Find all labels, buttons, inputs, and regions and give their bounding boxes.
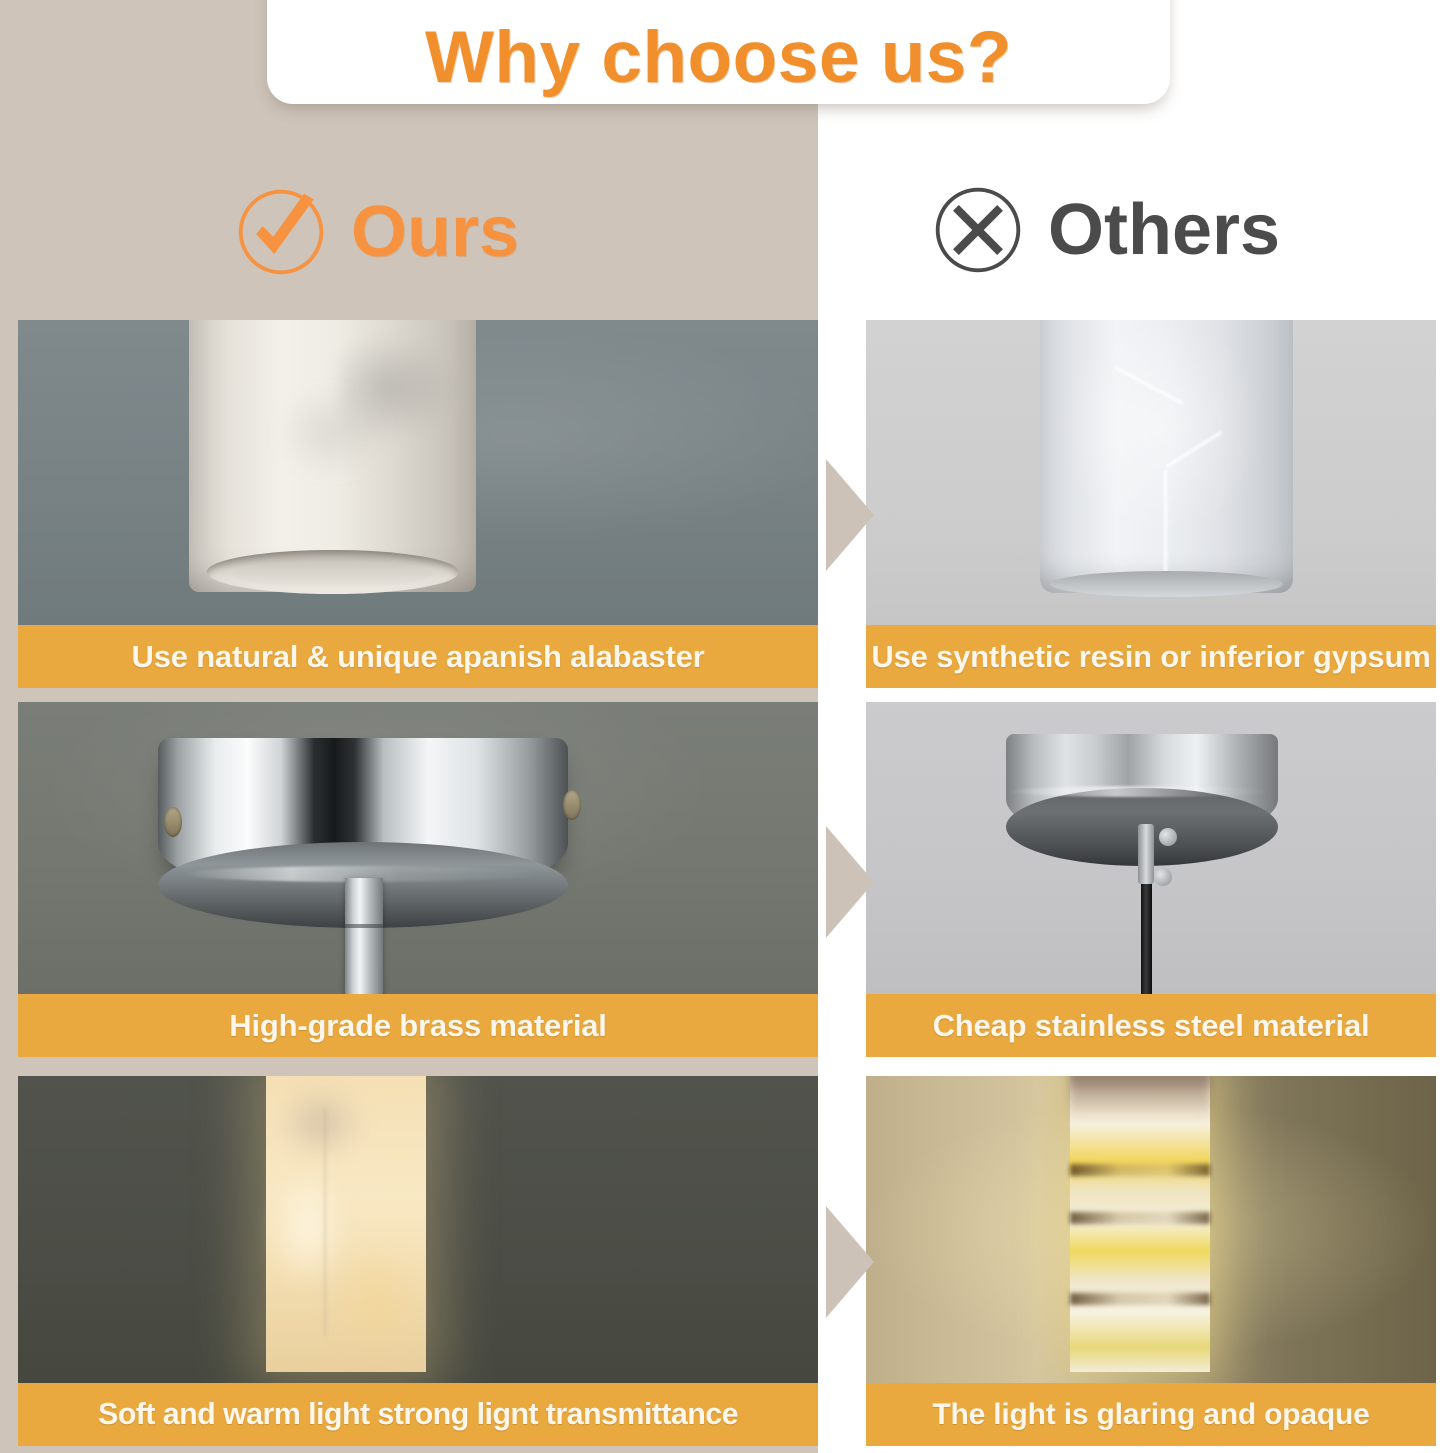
others-caption-1: Use synthetic resin or inferior gypsum [866,625,1436,688]
ours-card-1: Use natural & unique apanish alabaster [18,320,818,688]
ours-caption-3: Soft and warm light strong lignt transmi… [18,1383,818,1446]
others-card-3: The light is glaring and opaque [866,1076,1436,1446]
synthetic-resin-cylinder-photo [866,320,1436,625]
title-banner: Why choose us? [267,0,1170,104]
warm-glowing-alabaster-photo [18,1076,818,1383]
others-caption-2: Cheap stainless steel material [866,994,1436,1057]
ours-caption-2: High-grade brass material [18,994,818,1057]
others-caption-3: The light is glaring and opaque [866,1383,1436,1446]
ours-heading: Ours [233,184,519,280]
comparison-infographic: Why choose us? Ours Others [0,0,1445,1453]
ours-card-3: Soft and warm light strong lignt transmi… [18,1076,818,1446]
arrow-right-icon-1 [826,459,874,571]
glaring-yellow-alabaster-photo [866,1076,1436,1383]
natural-alabaster-cylinder-photo [18,320,818,625]
others-card-2: Cheap stainless steel material [866,702,1436,1057]
ours-label: Ours [351,196,519,268]
ours-caption-1: Use natural & unique apanish alabaster [18,625,818,688]
stainless-steel-canopy-photo [866,702,1436,994]
comparison-row-2: High-grade brass material Cheap stainles… [0,702,1445,1062]
arrow-right-icon-2 [826,826,874,938]
others-label: Others [1048,194,1280,266]
arrow-right-icon-3 [826,1206,874,1318]
ours-card-2: High-grade brass material [18,702,818,1057]
comparison-row-3: Soft and warm light strong lignt transmi… [0,1076,1445,1453]
column-headings: Ours Others [0,178,1445,303]
x-circle-icon [930,182,1026,278]
page-title: Why choose us? [425,21,1012,94]
others-card-1: Use synthetic resin or inferior gypsum [866,320,1436,688]
chrome-canopy-photo [18,702,818,994]
check-circle-icon [233,184,329,280]
comparison-row-1: Use natural & unique apanish alabaster U… [0,320,1445,690]
others-heading: Others [930,182,1280,278]
